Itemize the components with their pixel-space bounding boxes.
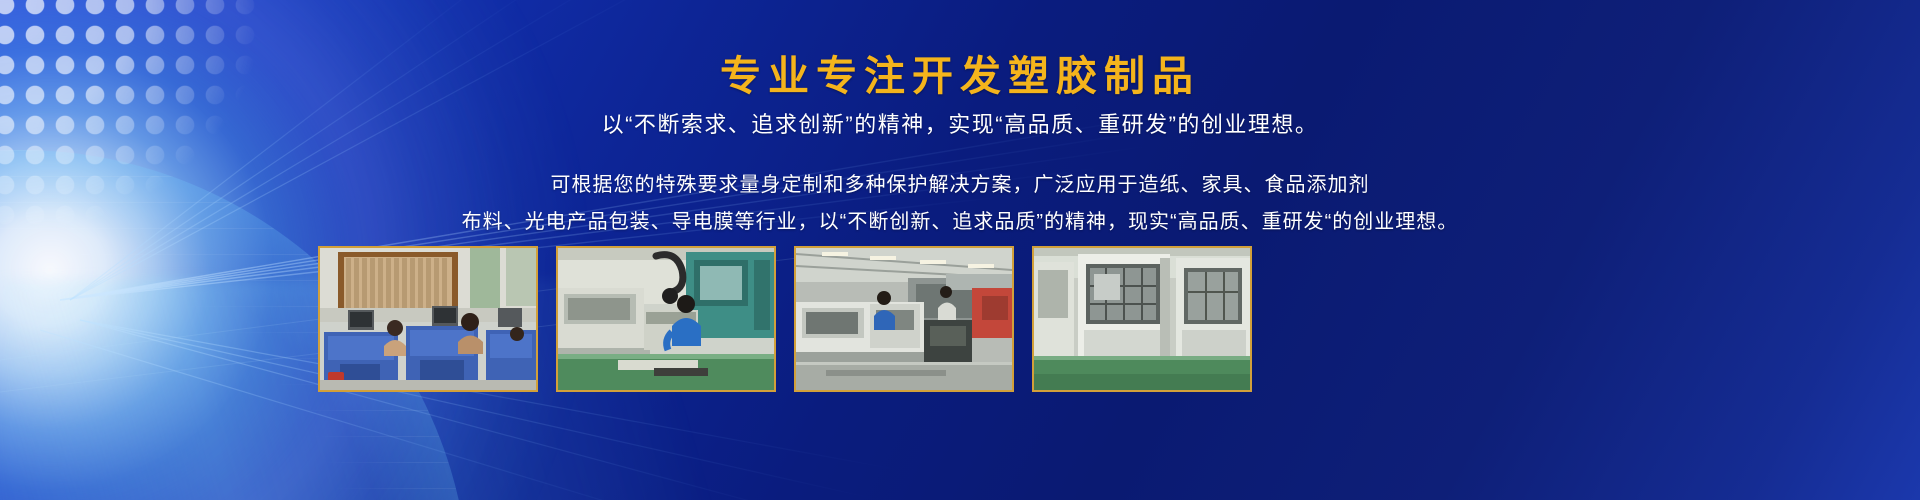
photo-office-workstations[interactable] (318, 246, 538, 392)
page-title: 专业专注开发塑胶制品 (0, 42, 1920, 102)
photo-cnc-engraving-machines[interactable] (1032, 246, 1252, 392)
banner-subtitle: 以“不断索求、追求创新”的精神，实现“高品质、重研发”的创业理想。 (0, 107, 1920, 139)
promo-banner: 专业专注开发塑胶制品 以“不断索求、追求创新”的精神，实现“高品质、重研发”的创… (0, 0, 1920, 500)
factory-photo-strip (318, 246, 1252, 392)
photo-cnc-machining-workshop[interactable] (556, 246, 776, 392)
photo-injection-molding-line[interactable] (794, 246, 1014, 392)
banner-description-line-1: 可根据您的特殊要求量身定制和多种保护解决方案，广泛应用于造纸、家具、食品添加剂 (0, 168, 1920, 197)
banner-description-line-2: 布料、光电产品包装、导电膜等行业，以“不断创新、追求品质”的精神，现实“高品质、… (0, 205, 1920, 234)
